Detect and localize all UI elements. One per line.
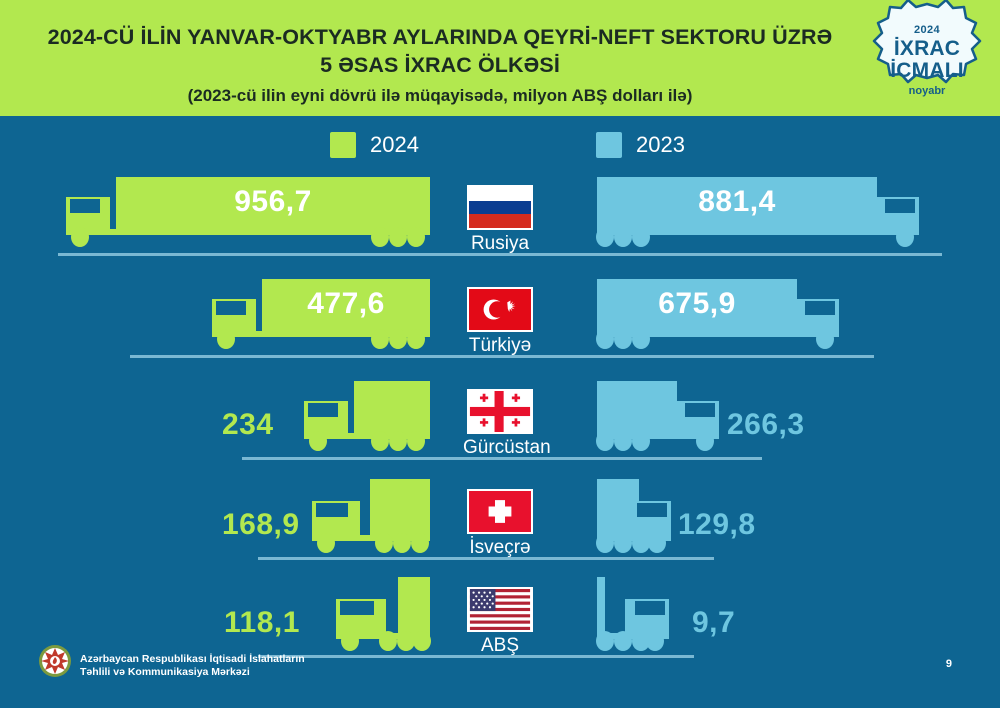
value-2024-abs: 118,1 <box>224 606 300 640</box>
header-text-block: 2024-CÜ İLİN YANVAR-OKTYABR AYLARINDA QE… <box>0 24 880 108</box>
legend-item-2023: 2023 <box>596 132 685 158</box>
value-2024-isvecre: 168,9 <box>222 508 300 542</box>
country-name: Gürcüstan <box>463 436 537 460</box>
country-name: Rusiya <box>463 232 537 256</box>
bar-2023-turkiye: 675,9 <box>575 277 843 355</box>
legend-swatch-2023 <box>596 132 622 158</box>
bar-2024-rusiya: 956,7 <box>62 175 430 253</box>
table-row: 234 266,3 <box>0 368 1000 468</box>
page-number: 9 <box>946 658 952 670</box>
value-2023-turkiye: 675,9 <box>597 277 797 331</box>
turkiye-flag <box>467 287 533 332</box>
badge-year: 2024 <box>862 24 992 36</box>
value-2023-rusiya: 881,4 <box>597 175 877 229</box>
value-2023-isvecre: 129,8 <box>678 508 756 542</box>
bar-2023-isvecre <box>575 479 675 557</box>
country-cell-isvecre: İsveçrə <box>463 489 537 560</box>
legend-item-2024: 2024 <box>330 132 419 158</box>
country-cell-rusiya: Rusiya <box>463 185 537 256</box>
page-title-line1: 2024-CÜ İLİN YANVAR-OKTYABR AYLARINDA QE… <box>0 24 880 51</box>
chart-legend: 2024 2023 <box>0 126 1000 166</box>
badge-line1: İXRAC <box>862 37 992 61</box>
table-row: 168,9 129,8 <box>0 468 1000 568</box>
bar-2024-turkiye: 477,6 <box>208 277 430 355</box>
table-row: 477,6 675,9 <box>0 266 1000 366</box>
georgia-flag <box>467 389 533 434</box>
bar-2023-rusiya: 881,4 <box>575 175 923 253</box>
value-2024-gurcustan: 234 <box>222 408 274 442</box>
footer: Azərbaycan Respublikası İqtisadi İslahat… <box>0 638 1000 708</box>
value-2024-turkiye: 477,6 <box>262 277 430 331</box>
value-2023-gurcustan: 266,3 <box>727 408 805 442</box>
organization-name-line1: Azərbaycan Respublikası İqtisadi İslahat… <box>80 653 305 666</box>
organization-logo-icon <box>38 644 72 678</box>
value-2024-rusiya: 956,7 <box>116 175 430 229</box>
switzerland-flag <box>467 489 533 534</box>
legend-swatch-2024 <box>330 132 356 158</box>
country-cell-gurcustan: Gürcüstan <box>463 389 537 460</box>
legend-label-2023: 2023 <box>636 134 685 156</box>
infographic-page: 2024-CÜ İLİN YANVAR-OKTYABR AYLARINDA QE… <box>0 0 1000 708</box>
bar-2023-gurcustan <box>575 379 723 457</box>
page-subtitle: (2023-cü ilin eyni dövrü ilə müqayisədə,… <box>0 84 880 108</box>
table-row: 956,7 881,4 <box>0 164 1000 264</box>
header-banner: 2024-CÜ İLİN YANVAR-OKTYABR AYLARINDA QE… <box>0 0 1000 116</box>
legend-label-2024: 2024 <box>370 134 419 156</box>
country-cell-turkiye: Türkiyə <box>463 287 537 358</box>
country-name: Türkiyə <box>463 334 537 358</box>
usa-flag <box>467 587 533 632</box>
organization-name-line2: Təhlili və Kommunikasiya Mərkəzi <box>80 666 305 679</box>
bar-2024-gurcustan <box>300 379 430 457</box>
organization-name: Azərbaycan Respublikası İqtisadi İslahat… <box>80 653 305 679</box>
page-title-line2: 5 ƏSAS İXRAC ÖLKƏSİ <box>0 52 880 79</box>
russia-flag <box>467 185 533 230</box>
country-name: İsveçrə <box>463 536 537 560</box>
badge-line2: İCMALI <box>862 59 992 83</box>
chart-area: 2024 2023 <box>0 116 1000 708</box>
badge-month: noyabr <box>862 85 992 97</box>
value-2023-abs: 9,7 <box>692 606 735 640</box>
bar-2024-isvecre <box>308 479 430 557</box>
